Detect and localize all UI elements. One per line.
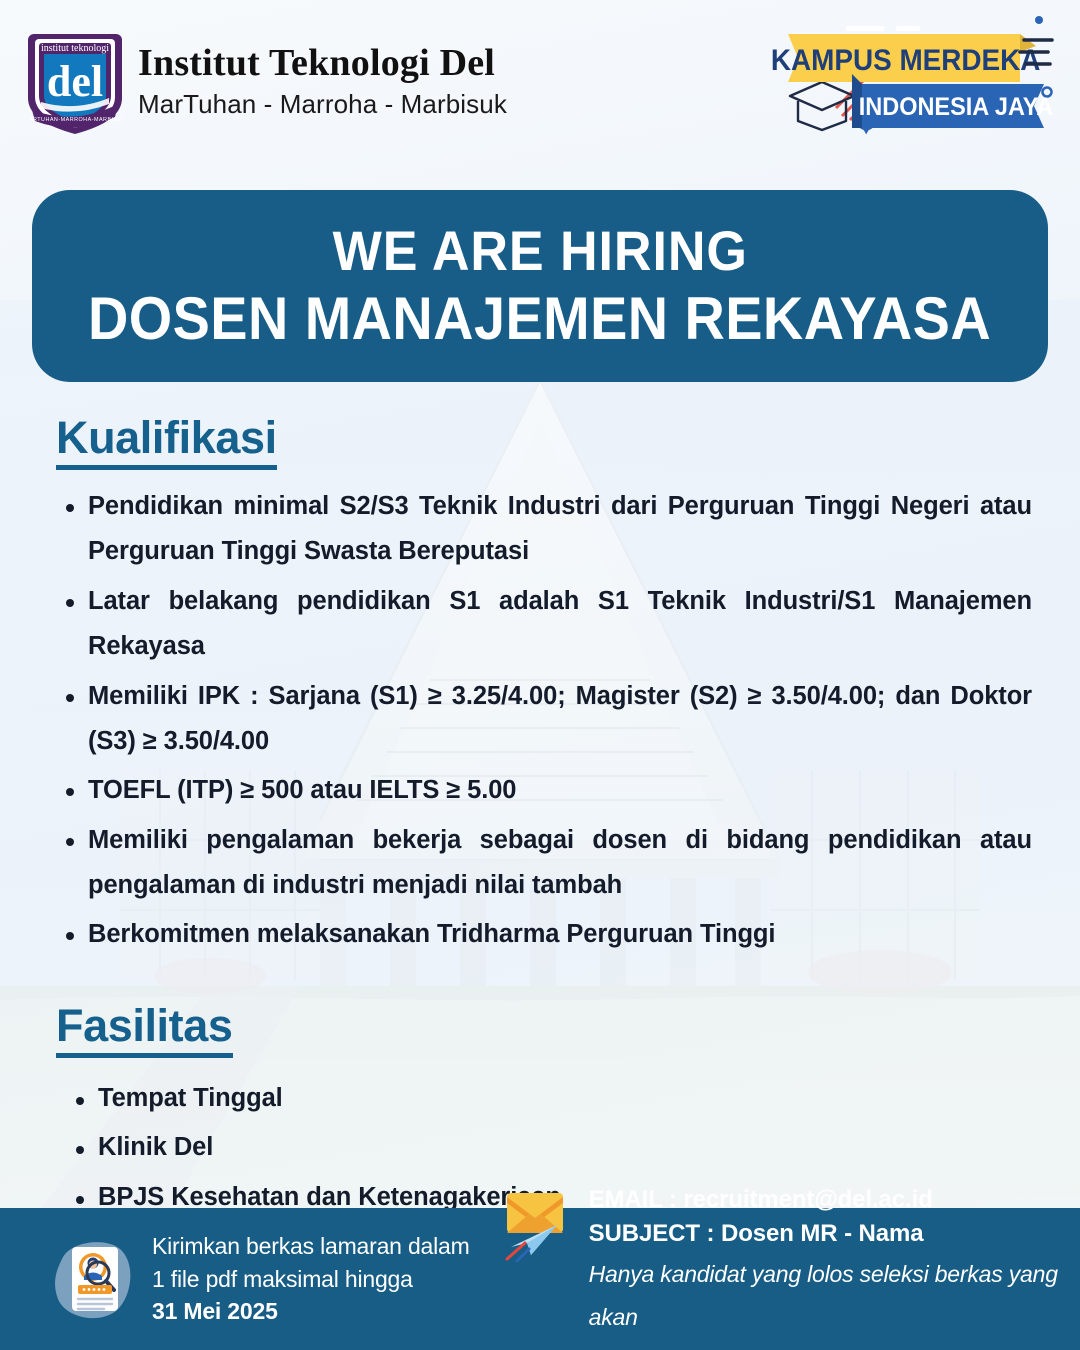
poster-root: institut teknologi del MARTUHAN-MARROHA-… — [0, 0, 1080, 1350]
list-item: Berkomitmen melaksanakan Tridharma Pergu… — [48, 912, 1032, 957]
institution-name: Institut Teknologi Del — [138, 44, 507, 84]
submission-line-2: 1 file pdf maksimal hingga — [152, 1263, 470, 1296]
contact-subject: SUBJECT : Dosen MR - Nama — [589, 1217, 1080, 1251]
list-item: Memiliki pengalaman bekerja sebagai dose… — [48, 818, 1032, 909]
qualifications-title: Kualifikasi — [56, 412, 277, 470]
contact-note-2: dihubungi untuk seleksi berikutnya — [589, 1340, 1080, 1350]
contact-text: EMAIL : recruitment@del.ac.id SUBJECT : … — [589, 1183, 1080, 1350]
submission-info: Kirimkan berkas lamaran dalam 1 file pdf… — [48, 1230, 493, 1328]
brand-lockup: institut teknologi del MARTUHAN-MARROHA-… — [28, 24, 507, 136]
poster-content: Kualifikasi Pendidikan minimal S2/S3 Tek… — [0, 412, 1080, 1223]
page-header: institut teknologi del MARTUHAN-MARROHA-… — [0, 0, 1080, 160]
qualifications-section: Kualifikasi Pendidikan minimal S2/S3 Tek… — [48, 412, 1032, 958]
hiring-position: DOSEN MANAJEMEN REKAYASA — [88, 285, 991, 352]
institution-motto: MarTuhan - Marroha - Marbisuk — [138, 89, 507, 120]
svg-text:INDONESIA JAYA: INDONESIA JAYA — [859, 93, 1054, 121]
list-item: Latar belakang pendidikan S1 adalah S1 T… — [48, 579, 1032, 670]
list-item: Tempat Tinggal — [48, 1074, 1032, 1124]
svg-text:institut teknologi: institut teknologi — [41, 43, 109, 54]
submission-text: Kirimkan berkas lamaran dalam 1 file pdf… — [152, 1230, 470, 1328]
list-item: Klinik Del — [48, 1123, 1032, 1173]
contact-email: EMAIL : recruitment@del.ac.id — [589, 1183, 1080, 1217]
submission-line-1: Kirimkan berkas lamaran dalam — [152, 1230, 470, 1263]
kampus-merdeka-logo-icon: KAMPUS MERDEKA INDONESIA JAYA — [768, 8, 1058, 136]
svg-text:2001: 2001 — [67, 126, 83, 133]
contact-info: EMAIL : recruitment@del.ac.id SUBJECT : … — [501, 1175, 1080, 1350]
submission-deadline: 31 Mei 2025 — [152, 1298, 278, 1324]
email-envelope-icon — [501, 1185, 579, 1263]
page-footer: Kirimkan berkas lamaran dalam 1 file pdf… — [0, 1208, 1080, 1350]
svg-text:del: del — [47, 57, 103, 106]
contact-note-1: Hanya kandidat yang lolos seleksi berkas… — [589, 1253, 1080, 1338]
facilities-title: Fasilitas — [56, 1000, 233, 1058]
hiring-headline: WE ARE HIRING — [332, 220, 747, 283]
qualifications-list: Pendidikan minimal S2/S3 Teknik Industri… — [48, 484, 1032, 958]
list-item: Memiliki IPK : Sarjana (S1) ≥ 3.25/4.00;… — [48, 674, 1032, 765]
itdel-logo-icon: institut teknologi del MARTUHAN-MARROHA-… — [28, 24, 122, 136]
hiring-banner: WE ARE HIRING DOSEN MANAJEMEN REKAYASA — [32, 190, 1048, 382]
svg-text:KAMPUS MERDEKA: KAMPUS MERDEKA — [771, 44, 1041, 77]
cv-document-icon — [48, 1233, 140, 1325]
svg-text:MARTUHAN-MARROHA-MARBISUK: MARTUHAN-MARROHA-MARBISUK — [28, 117, 122, 123]
list-item: TOEFL (ITP) ≥ 500 atau IELTS ≥ 5.00 — [48, 768, 1032, 813]
list-item: Pendidikan minimal S2/S3 Teknik Industri… — [48, 484, 1032, 575]
brand-text-block: Institut Teknologi Del MarTuhan - Marroh… — [138, 40, 507, 121]
